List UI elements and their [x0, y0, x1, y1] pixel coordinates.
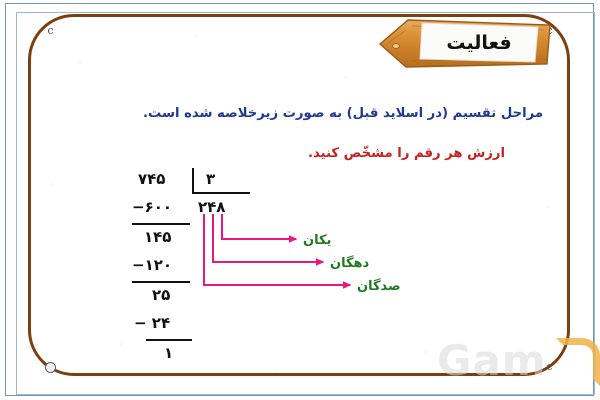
step-rule-3 [146, 339, 192, 341]
instruction-line-primary: مراحل تقسیم (در اسلاید قبل) به صورت زیرخ… [0, 106, 543, 121]
corner-ring-icon [44, 360, 57, 373]
ring-glyph [45, 362, 56, 373]
instruction-line-secondary: ارزش هر رقم را مشخّص کنید. [0, 146, 505, 161]
activity-banner-label: فعالیت [378, 17, 554, 69]
division-bracket-vertical [192, 168, 194, 194]
long-division-block: ۷۴۵ ۳ ۲۴۸ −۶۰۰ ۱۴۵ −۱۲۰ ۲۵ − ۲۴ ۱ [130, 168, 270, 358]
subtraction-step-1: −۶۰۰ [132, 198, 172, 216]
step-rule-2 [132, 281, 190, 283]
place-value-label-ones: یکان [303, 233, 331, 248]
activity-banner: فعالیت [378, 17, 554, 69]
final-remainder: ۱ [164, 344, 173, 362]
subtraction-step-2: −۱۲۰ [132, 256, 172, 274]
place-value-label-hundreds: صدگان [357, 279, 401, 294]
remainder-step-1: ۱۴۵ [144, 228, 171, 246]
quotient-value: ۲۴۸ [198, 198, 225, 216]
subtraction-step-3: − ۲۴ [134, 314, 170, 332]
dividend-value: ۷۴۵ [138, 170, 165, 188]
remainder-step-2: ۲۵ [152, 286, 170, 304]
corner-ornament-icon: c [44, 24, 57, 37]
divisor-value: ۳ [206, 170, 215, 188]
division-bracket-horizontal [192, 192, 250, 194]
watermark-text: Gam [437, 336, 547, 385]
slide-canvas: c c c Gam [0, 0, 600, 400]
step-rule-1 [132, 223, 190, 225]
place-value-label-tens: دهگان [330, 256, 369, 271]
watermark-arc-icon [556, 338, 600, 386]
